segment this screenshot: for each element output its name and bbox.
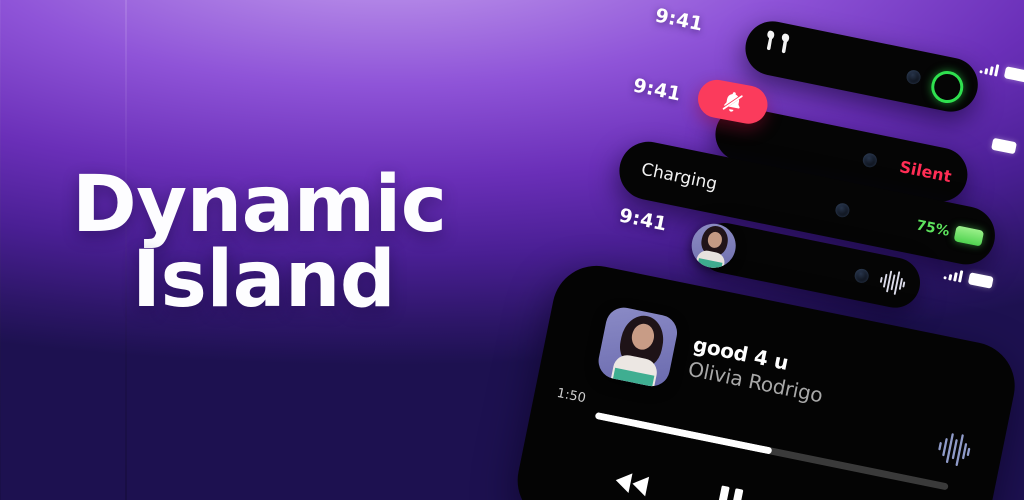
front-camera-lens <box>905 69 922 86</box>
backdrop-edge-seam <box>0 0 1 500</box>
audio-waveform-icon[interactable] <box>933 429 975 469</box>
cellular-signal-icon <box>943 267 963 282</box>
cellular-signal-icon <box>979 61 999 76</box>
status-clock-call: 9:41 <box>617 204 668 235</box>
battery-icon <box>968 272 994 289</box>
progress-bar-fill <box>595 412 773 455</box>
device-status-cluster-bottom <box>943 267 993 289</box>
front-camera-lens <box>862 152 879 169</box>
device-status-cluster-top <box>979 61 1024 83</box>
audio-waveform-icon <box>876 267 909 298</box>
front-camera-lens <box>834 202 851 219</box>
front-camera-lens <box>853 268 870 285</box>
status-clock-airpods: 9:41 <box>653 4 704 35</box>
device-status-cluster-mid <box>991 138 1017 155</box>
poster-canvas: Dynamic Island 9:41 9:41 Silent <box>0 0 1024 500</box>
charging-label: Charging <box>640 160 719 195</box>
battery-icon <box>991 138 1017 155</box>
green-ring-icon <box>928 68 966 106</box>
page-title-line-1: Dynamic <box>72 168 502 243</box>
battery-percent-label: 75% <box>915 217 951 239</box>
battery-icon <box>1004 66 1024 83</box>
silent-label: Silent <box>898 157 953 186</box>
battery-charging-icon <box>954 225 985 246</box>
silent-mode-pill[interactable] <box>695 77 771 127</box>
page-title: Dynamic Island <box>72 168 502 318</box>
contact-avatar <box>688 220 740 272</box>
rewind-button[interactable] <box>607 463 655 500</box>
dynamic-island-airpods[interactable] <box>741 17 983 117</box>
status-clock-silent: 9:41 <box>631 74 682 105</box>
album-artwork <box>595 304 680 389</box>
bell-slash-icon <box>718 87 748 117</box>
track-info: good 4 u Olivia Rodrigo <box>686 332 830 407</box>
airpods-icon <box>760 29 795 62</box>
playback-controls <box>607 463 851 500</box>
rewind-icon <box>610 467 652 500</box>
pause-icon <box>712 484 746 500</box>
elapsed-time-label: 1:50 <box>555 386 587 407</box>
page-title-line-2: Island <box>72 243 502 318</box>
music-player-card[interactable]: good 4 u Olivia Rodrigo 1:50 - 1:51 <box>510 258 1023 500</box>
pause-button[interactable] <box>705 482 753 500</box>
